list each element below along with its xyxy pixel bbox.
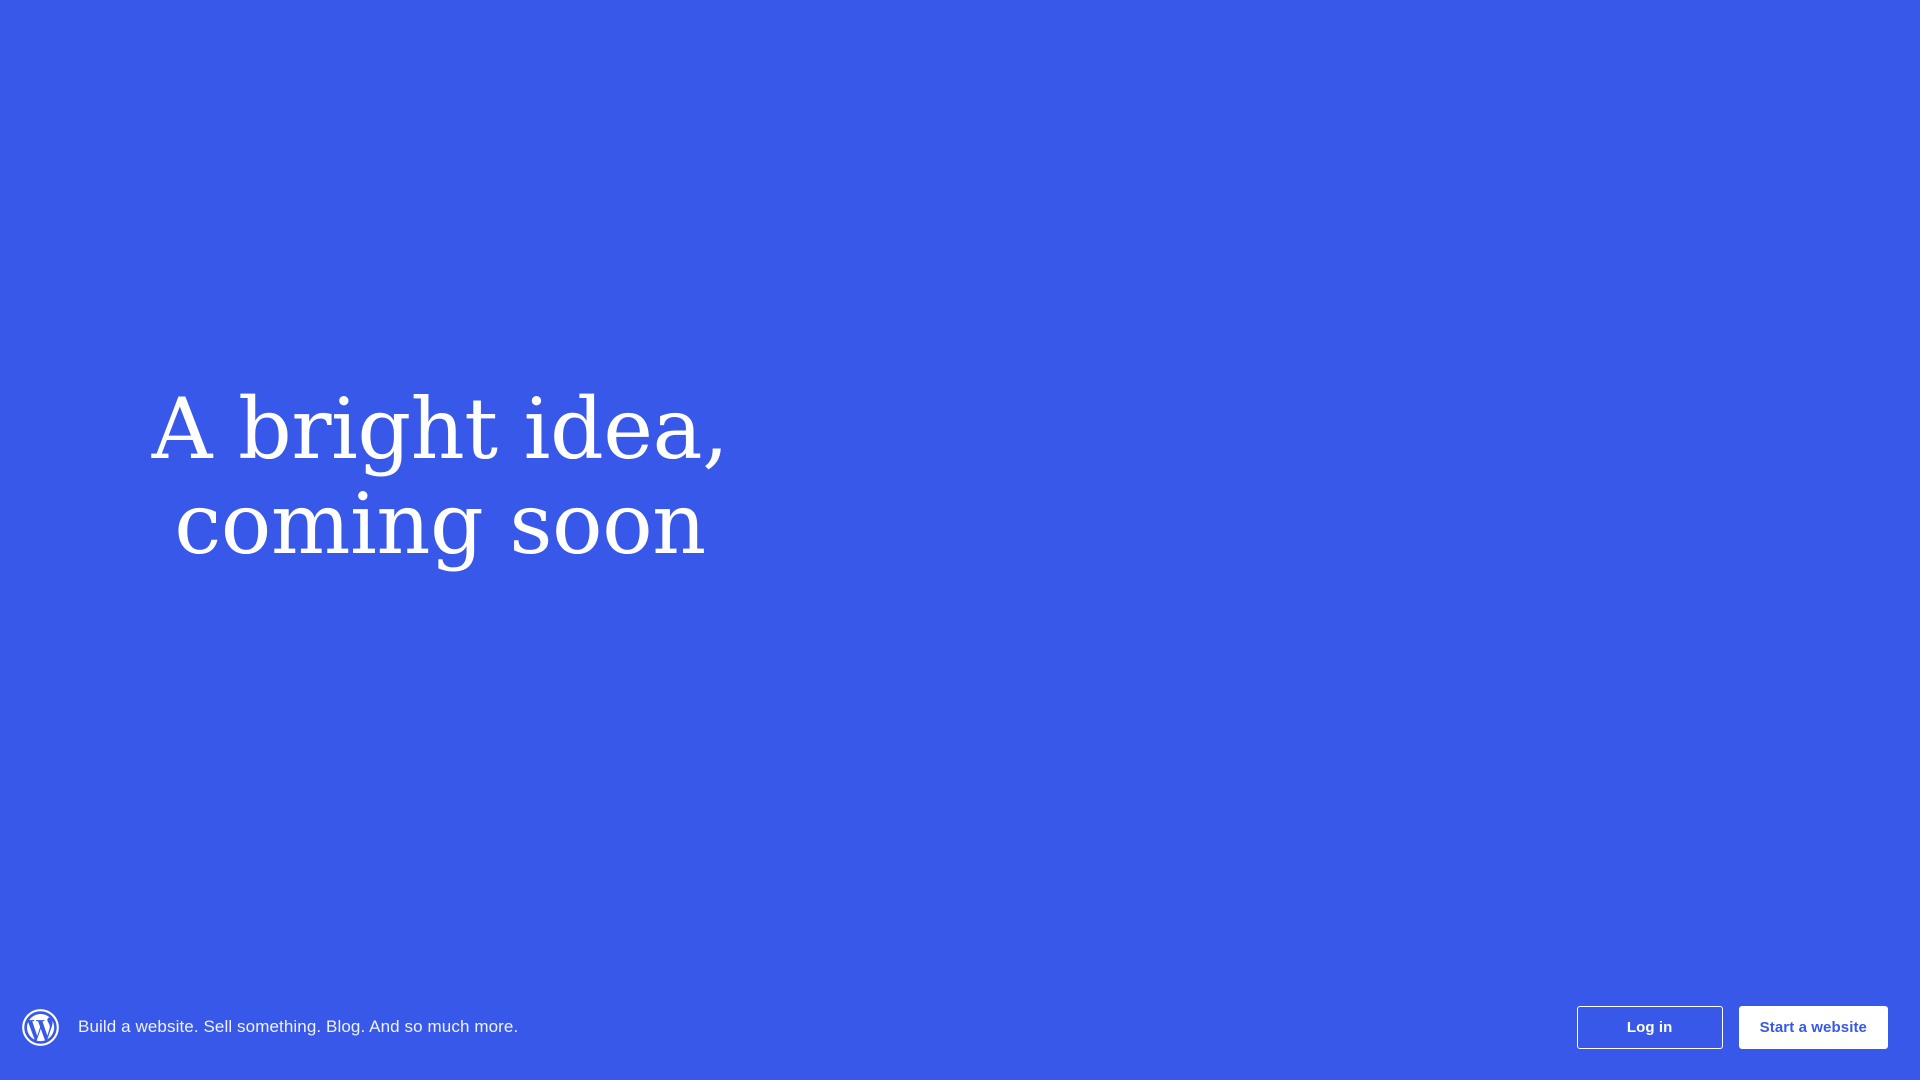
footer-tagline: Build a website. Sell something. Blog. A… <box>78 1017 518 1037</box>
footer-actions: Log in Start a website <box>1577 1006 1888 1049</box>
footer-bar: Build a website. Sell something. Blog. A… <box>0 974 1920 1080</box>
page-title: A bright idea, coming soon <box>120 382 760 572</box>
start-a-website-button[interactable]: Start a website <box>1739 1006 1888 1049</box>
coming-soon-page: A bright idea, coming soon Build a websi… <box>0 0 1920 1080</box>
log-in-button[interactable]: Log in <box>1577 1006 1723 1049</box>
footer-branding: Build a website. Sell something. Blog. A… <box>22 1009 518 1046</box>
hero-section: A bright idea, coming soon <box>0 0 1920 974</box>
wordpress-logo-icon <box>22 1009 59 1046</box>
